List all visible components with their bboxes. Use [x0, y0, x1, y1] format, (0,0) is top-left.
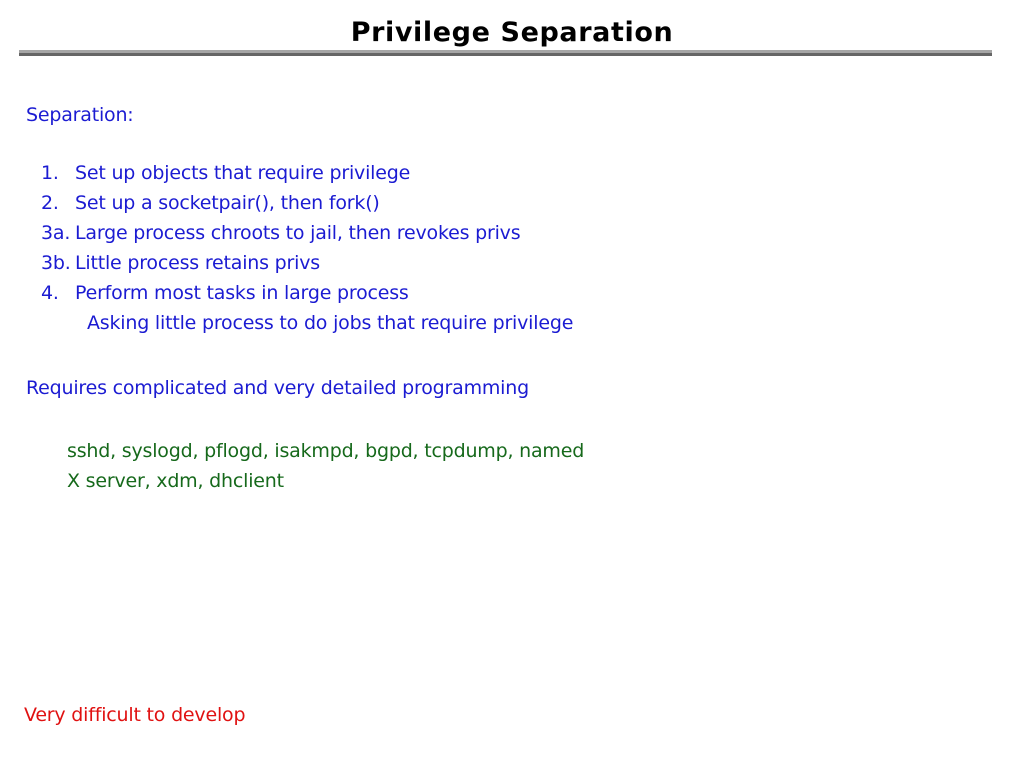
list-item: 2. Set up a socketpair(), then fork(): [41, 188, 573, 218]
step-sub-label: Asking little process to do jobs that re…: [41, 308, 573, 338]
list-item: sshd, syslogd, pflogd, isakmpd, bgpd, tc…: [67, 436, 584, 466]
separation-steps-list: 1.Set up objects that require privilege …: [41, 158, 573, 338]
title-divider-shadow: [19, 53, 992, 56]
step-label: Little process retains privs: [75, 248, 320, 278]
step-number: 4.: [41, 278, 75, 308]
list-item: 1.Set up objects that require privilege: [41, 158, 573, 188]
section-heading-separation: Separation:: [26, 100, 134, 130]
page-title: Privilege Separation: [0, 16, 1024, 50]
list-item: 3a.Large process chroots to jail, then r…: [41, 218, 573, 248]
slide-canvas: Privilege Separation Separation: 1.Set u…: [0, 0, 1024, 768]
step-label: Perform most tasks in large process: [75, 278, 409, 308]
title-divider: [19, 50, 992, 56]
list-item: X server, xdm, dhclient: [67, 466, 584, 496]
step-label: Set up a socketpair(), then fork(): [75, 188, 380, 218]
step-number: 3a.: [41, 218, 75, 248]
list-item: 3b.Little process retains privs: [41, 248, 573, 278]
list-item: 4. Perform most tasks in large process: [41, 278, 573, 308]
step-number: 1.: [41, 158, 75, 188]
step-label: Set up objects that require privilege: [75, 158, 410, 188]
requirements-note: Requires complicated and very detailed p…: [26, 373, 529, 403]
step-number: 3b.: [41, 248, 75, 278]
step-number: 2.: [41, 188, 75, 218]
step-label: Large process chroots to jail, then revo…: [75, 218, 520, 248]
examples-list: sshd, syslogd, pflogd, isakmpd, bgpd, tc…: [67, 436, 584, 496]
footer-note: Very difficult to develop: [24, 700, 245, 730]
